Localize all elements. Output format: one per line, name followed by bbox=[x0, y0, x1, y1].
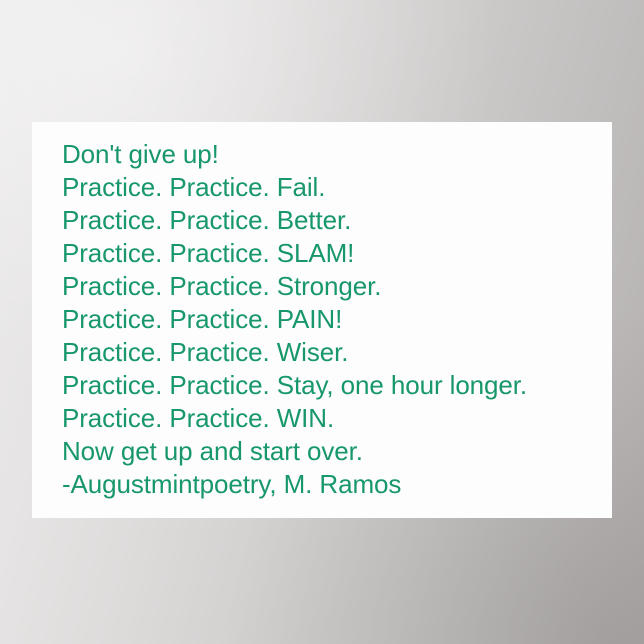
poem-line: Practice. Practice. Wiser. bbox=[62, 336, 600, 369]
poster-sheet: Don't give up! Practice. Practice. Fail.… bbox=[32, 122, 612, 518]
poem-attribution-line: -Augustmintpoetry, M. Ramos bbox=[62, 468, 600, 501]
poem-line: Practice. Practice. Better. bbox=[62, 204, 600, 237]
poem-line: Don't give up! bbox=[62, 138, 600, 171]
poem-line: Now get up and start over. bbox=[62, 435, 600, 468]
poem-line: Practice. Practice. SLAM! bbox=[62, 237, 600, 270]
poster-scene: Don't give up! Practice. Practice. Fail.… bbox=[0, 0, 644, 644]
poem-text-block: Don't give up! Practice. Practice. Fail.… bbox=[62, 138, 600, 501]
poem-line: Practice. Practice. WIN. bbox=[62, 402, 600, 435]
poem-line: Practice. Practice. Stay, one hour longe… bbox=[62, 369, 600, 402]
poem-line: Practice. Practice. Stronger. bbox=[62, 270, 600, 303]
poem-line: Practice. Practice. PAIN! bbox=[62, 303, 600, 336]
poem-line: Practice. Practice. Fail. bbox=[62, 171, 600, 204]
